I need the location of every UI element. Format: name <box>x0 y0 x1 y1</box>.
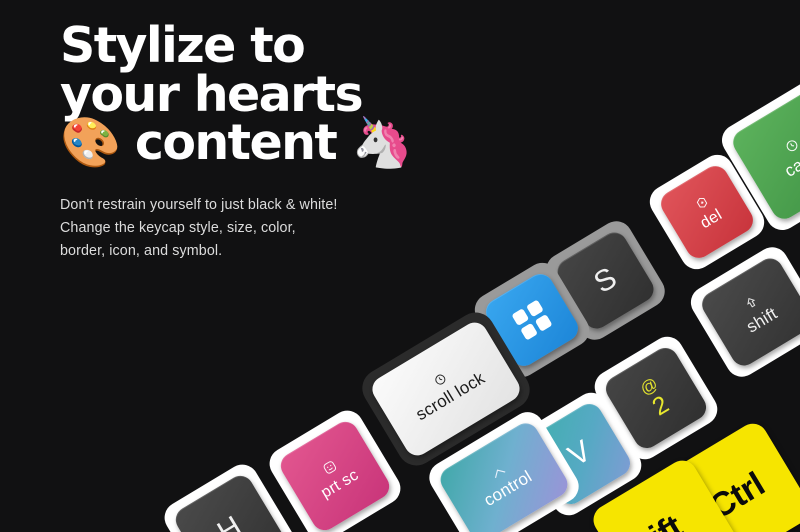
keycap-two-label: 2 <box>648 392 673 421</box>
keycap-control-label: control <box>481 468 535 510</box>
clock-icon <box>782 137 800 155</box>
keyboard-showcase-canvas: Stylize to your hearts 🎨 content 🦄 Don't… <box>0 0 800 532</box>
keycap-shift-yellow-label: ift <box>643 507 689 532</box>
clock-icon <box>432 371 448 387</box>
hexagon-star-icon <box>693 194 711 212</box>
page-description: Don't restrain yourself to just black & … <box>60 194 340 263</box>
keycap-s-label: S <box>589 262 622 298</box>
windows-squares-icon <box>511 299 552 340</box>
keycap-h-face: H <box>171 471 289 532</box>
arrow-up-icon <box>742 293 761 312</box>
keycap-scroll-lock-label: scroll lock <box>413 369 488 423</box>
keycap-prt-sc-face: prt sc <box>276 417 394 532</box>
page-title: Stylize to your hearts 🎨 content 🦄 <box>60 22 480 168</box>
keycap-del-label: del <box>698 207 725 232</box>
smiley-icon <box>320 457 339 476</box>
copy-block: Stylize to your hearts 🎨 content 🦄 Don't… <box>60 22 480 263</box>
keycap-shift-face: shift <box>697 254 800 371</box>
keycap-h-label: H <box>213 512 247 532</box>
